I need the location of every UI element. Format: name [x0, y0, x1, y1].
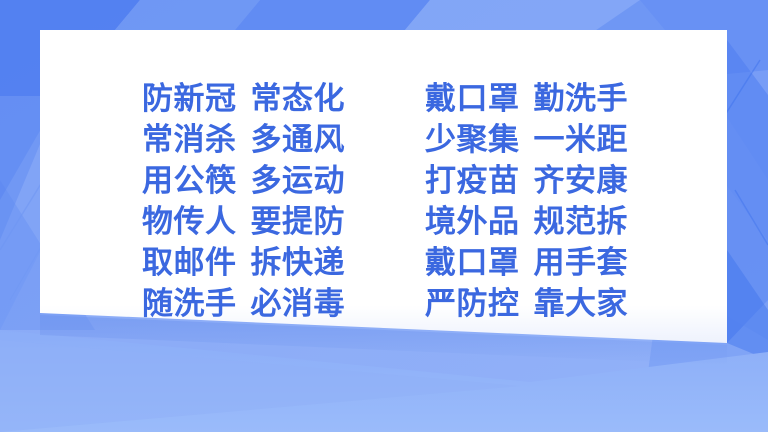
- slogan-row: 常消杀多通风: [142, 120, 345, 161]
- slogan-phrase: 多运动: [251, 163, 346, 199]
- slogan-area: 防新冠常态化 常消杀多通风 用公筷多运动 物传人要提防 取邮件拆快递 随洗手必消…: [0, 0, 768, 432]
- slogan-phrase: 用手套: [534, 245, 629, 281]
- slogan-phrase: 物传人: [142, 204, 237, 240]
- slogan-phrase: 取邮件: [142, 245, 237, 281]
- slogan-phrase: 一米距: [534, 122, 629, 158]
- slogan-row: 随洗手必消毒: [142, 284, 345, 325]
- slogan-row: 防新冠常态化: [142, 79, 345, 120]
- slogan-row: 严防控靠大家: [425, 284, 628, 325]
- slogan-row: 物传人要提防: [142, 202, 345, 243]
- slogan-phrase: 勤洗手: [534, 81, 629, 117]
- slogan-row: 取邮件拆快递: [142, 243, 345, 284]
- slogan-phrase: 多通风: [251, 122, 346, 158]
- slogan-phrase: 戴口罩: [425, 81, 520, 117]
- slogan-column-right: 戴口罩勤洗手 少聚集一米距 打疫苗齐安康 境外品规范拆 戴口罩用手套 严防控靠大…: [425, 79, 628, 325]
- slogan-phrase: 少聚集: [425, 122, 520, 158]
- slogan-phrase: 靠大家: [534, 286, 629, 322]
- slogan-phrase: 严防控: [425, 286, 520, 322]
- slogan-row: 用公筷多运动: [142, 161, 345, 202]
- slogan-row: 打疫苗齐安康: [425, 161, 628, 202]
- slogan-phrase: 随洗手: [142, 286, 237, 322]
- slogan-phrase: 用公筷: [142, 163, 237, 199]
- slogan-row: 境外品规范拆: [425, 202, 628, 243]
- slogan-phrase: 要提防: [251, 204, 346, 240]
- slogan-row: 戴口罩用手套: [425, 243, 628, 284]
- slogan-phrase: 常态化: [251, 81, 346, 117]
- slogan-phrase: 打疫苗: [425, 163, 520, 199]
- slogan-row: 戴口罩勤洗手: [425, 79, 628, 120]
- poster-slide: 防新冠常态化 常消杀多通风 用公筷多运动 物传人要提防 取邮件拆快递 随洗手必消…: [0, 0, 768, 432]
- slogan-phrase: 必消毒: [251, 286, 346, 322]
- slogan-phrase: 境外品: [425, 204, 520, 240]
- slogan-phrase: 常消杀: [142, 122, 237, 158]
- slogan-phrase: 规范拆: [534, 204, 629, 240]
- slogan-phrase: 齐安康: [534, 163, 629, 199]
- slogan-phrase: 拆快递: [251, 245, 346, 281]
- slogan-phrase: 戴口罩: [425, 245, 520, 281]
- slogan-phrase: 防新冠: [142, 81, 237, 117]
- slogan-column-left: 防新冠常态化 常消杀多通风 用公筷多运动 物传人要提防 取邮件拆快递 随洗手必消…: [142, 79, 345, 325]
- slogan-row: 少聚集一米距: [425, 120, 628, 161]
